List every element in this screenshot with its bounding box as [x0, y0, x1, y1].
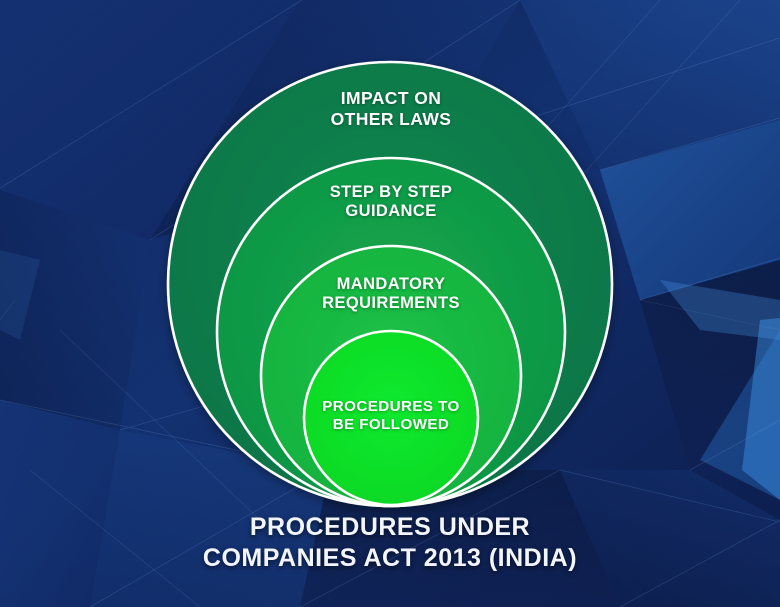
ring-circle-procedures [304, 331, 478, 505]
slide-title: PROCEDURES UNDER COMPANIES ACT 2013 (IND… [0, 512, 780, 574]
slide-canvas: IMPACT ON OTHER LAWS STEP BY STEP GUIDAN… [0, 0, 780, 607]
